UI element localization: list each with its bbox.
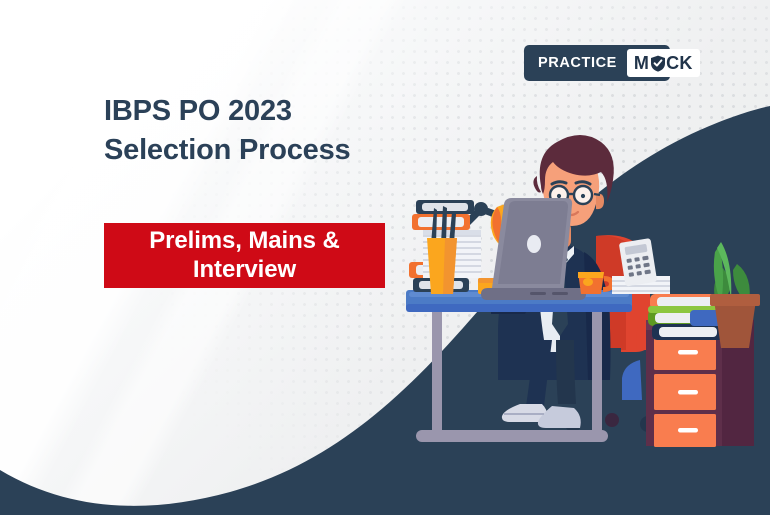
logo-mock-badge: M CK — [627, 49, 700, 77]
page-title: IBPS PO 2023 Selection Process — [104, 92, 350, 169]
shield-check-o-icon — [650, 55, 666, 72]
logo-mock-right: CK — [666, 54, 692, 72]
logo-mock-left: M — [634, 54, 649, 72]
logo-practice-text: PRACTICE — [538, 56, 617, 71]
practicemock-logo[interactable]: PRACTICE M CK — [524, 45, 670, 81]
subtitle-banner-text: Prelims, Mains & Interview — [149, 227, 339, 284]
subtitle-banner: Prelims, Mains & Interview — [104, 223, 385, 288]
poster-canvas: PRACTICE M CK IBPS PO 2023 Selection Pro… — [0, 0, 770, 515]
